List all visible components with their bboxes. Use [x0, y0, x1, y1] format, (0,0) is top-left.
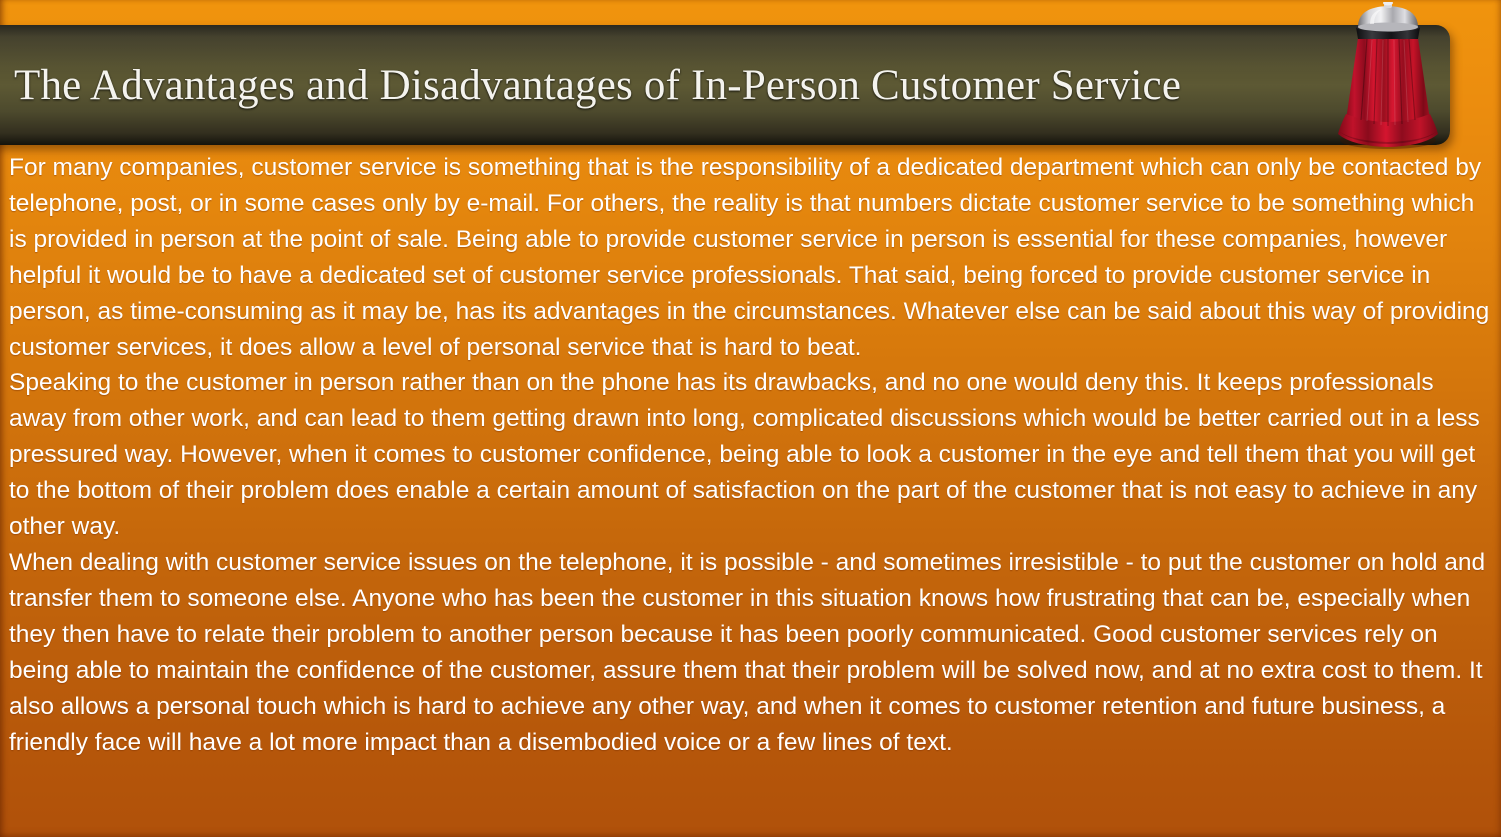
- body-paragraph-1: For many companies, customer service is …: [9, 150, 1493, 365]
- page-title: The Advantages and Disadvantages of In-P…: [14, 25, 1310, 145]
- presentation-slide: The Advantages and Disadvantages of In-P…: [0, 0, 1501, 837]
- slide-body-text: For many companies, customer service is …: [9, 150, 1493, 760]
- body-paragraph-2: Speaking to the customer in person rathe…: [9, 365, 1493, 545]
- service-bell-image: [1322, 2, 1454, 150]
- slide-title-bar: The Advantages and Disadvantages of In-P…: [0, 25, 1450, 145]
- body-paragraph-3: When dealing with customer service issue…: [9, 545, 1493, 760]
